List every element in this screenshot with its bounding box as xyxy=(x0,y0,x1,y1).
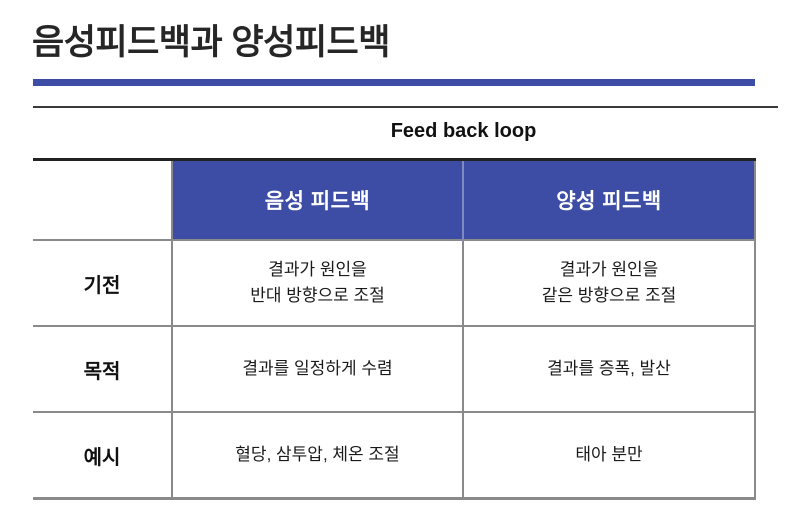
title-divider-rule xyxy=(33,106,778,108)
row-label-mechanism: 기전 xyxy=(33,240,172,326)
cell-text-line: 반대 방향으로 조절 xyxy=(173,283,462,309)
row-label-purpose: 목적 xyxy=(33,326,172,412)
cell-examples-positive: 태아 분만 xyxy=(463,412,755,499)
header-cell-positive-feedback: 양성 피드백 xyxy=(463,160,755,241)
header-cell-blank xyxy=(33,160,172,241)
cell-mechanism-negative: 결과가 원인을 반대 방향으로 조절 xyxy=(172,240,463,326)
table-header-row: 음성 피드백 양성 피드백 xyxy=(33,160,755,241)
cell-text-line: 같은 방향으로 조절 xyxy=(464,283,754,309)
row-label-examples: 예시 xyxy=(33,412,172,499)
cell-purpose-positive: 결과를 증폭, 발산 xyxy=(463,326,755,412)
cell-text-line: 결과가 원인을 xyxy=(173,257,462,283)
cell-purpose-negative: 결과를 일정하게 수렴 xyxy=(172,326,463,412)
cell-text-line: 결과가 원인을 xyxy=(464,257,754,283)
table-row: 예시 혈당, 삼투압, 체온 조절 태아 분만 xyxy=(33,412,755,499)
table-caption: Feed back loop xyxy=(172,120,755,143)
table-row: 기전 결과가 원인을 반대 방향으로 조절 결과가 원인을 같은 방향으로 조절 xyxy=(33,240,755,326)
cell-text-line: 혈당, 삼투압, 체온 조절 xyxy=(173,442,462,468)
header-cell-negative-feedback: 음성 피드백 xyxy=(172,160,463,241)
cell-mechanism-positive: 결과가 원인을 같은 방향으로 조절 xyxy=(463,240,755,326)
cell-text-line: 태아 분만 xyxy=(464,442,754,468)
cell-examples-negative: 혈당, 삼투압, 체온 조절 xyxy=(172,412,463,499)
feedback-comparison-table: 음성 피드백 양성 피드백 기전 결과가 원인을 반대 방향으로 조절 결과가 … xyxy=(33,158,756,500)
title-accent-bar xyxy=(33,79,755,86)
page-title: 음성피드백과 양성피드백 xyxy=(32,14,390,65)
cell-text-line: 결과를 일정하게 수렴 xyxy=(173,356,462,382)
table-row: 목적 결과를 일정하게 수렴 결과를 증폭, 발산 xyxy=(33,326,755,412)
cell-text-line: 결과를 증폭, 발산 xyxy=(464,356,754,382)
